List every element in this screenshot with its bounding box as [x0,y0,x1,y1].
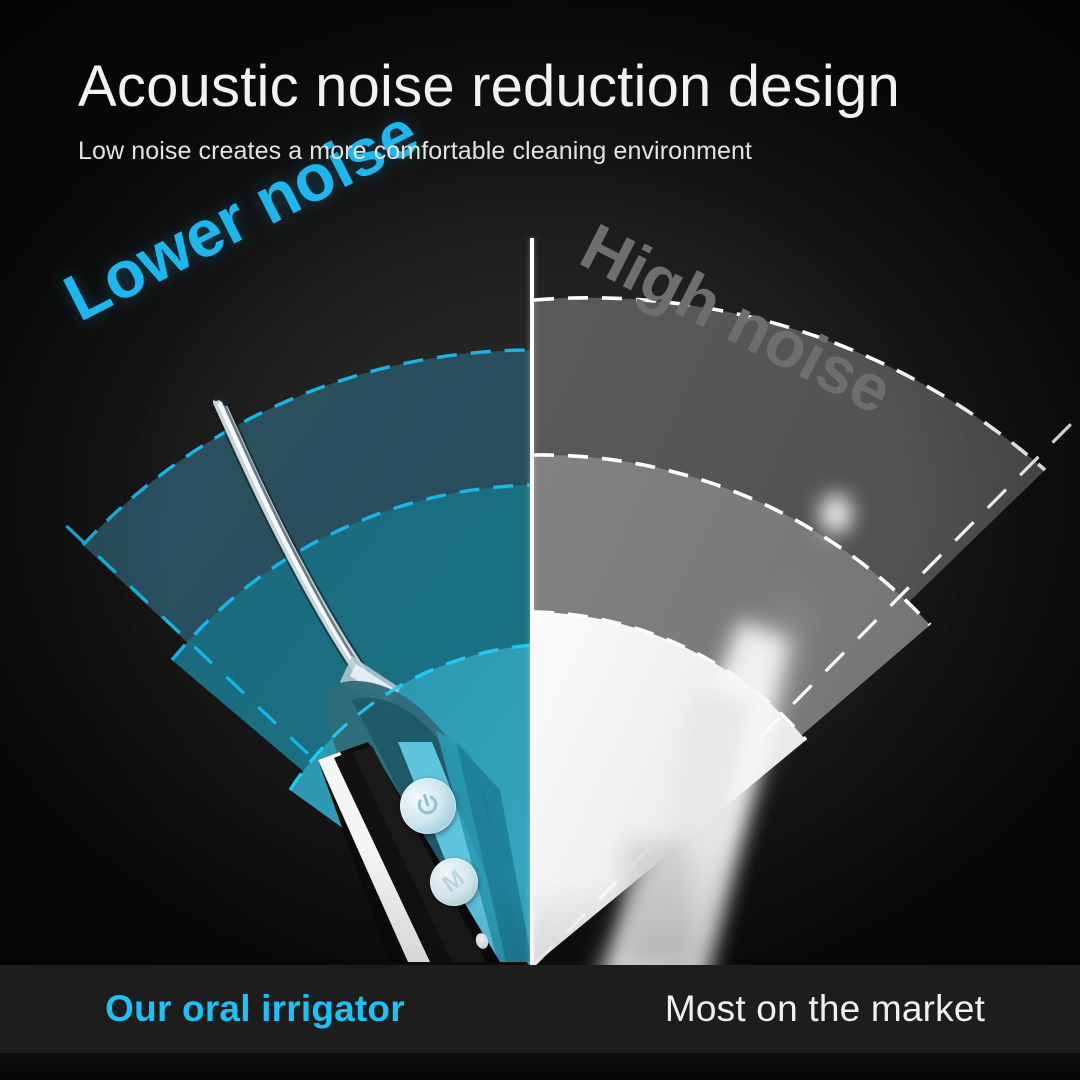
product-marketing-image: M Lower noise High noise Acoustic noise … [0,0,1080,1080]
header: Acoustic noise reduction design Low nois… [78,56,1018,166]
center-divider [530,238,534,1063]
page-subtitle: Low noise creates a more comfortable cle… [78,137,1018,166]
caption-market: Most on the market [544,965,1080,1053]
page-title: Acoustic noise reduction design [78,56,1018,119]
caption-our-product: Our oral irrigator [0,965,544,1053]
caption-bar: Our oral irrigator Most on the market [0,965,1080,1053]
